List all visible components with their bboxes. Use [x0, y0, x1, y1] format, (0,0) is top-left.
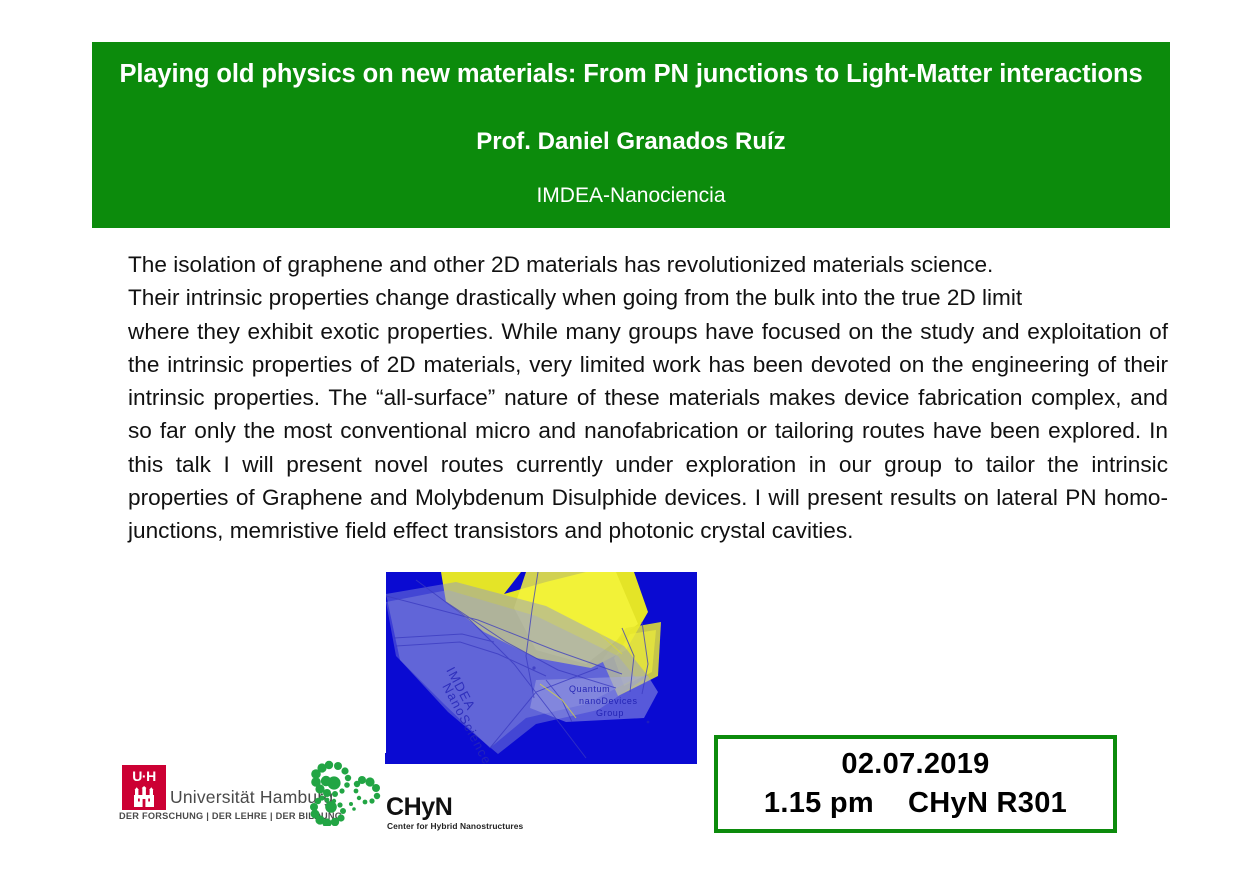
abstract-line-1: The isolation of graphene and other 2D m… [128, 248, 1168, 281]
abstract-text-block: The isolation of graphene and other 2D m… [128, 248, 1168, 548]
svg-text:Quantum: Quantum [569, 684, 610, 694]
event-info-box: 02.07.2019 1.15 pmCHyN R301 [714, 735, 1117, 833]
chyn-wordmark: CHyN [386, 793, 452, 822]
poster-header-band: Playing old physics on new materials: Fr… [92, 42, 1170, 228]
hamburg-castle-crest-icon [134, 786, 154, 807]
event-room: CHyN R301 [908, 787, 1067, 819]
micrograph-artwork: IMDEA NanoScience Quantum nanoDevices Gr… [386, 572, 697, 764]
chyn-blue-bar [385, 753, 431, 764]
uhh-red-mark: U·H [122, 765, 166, 810]
sample-micrograph-image: IMDEA NanoScience Quantum nanoDevices Gr… [386, 572, 697, 764]
chyn-subtitle: Center for Hybrid Nanostructures [387, 821, 523, 831]
abstract-body: where they exhibit exotic properties. Wh… [128, 315, 1168, 548]
chyn-nanostructure-icon [307, 760, 385, 826]
event-time: 1.15 pm [764, 787, 874, 819]
chyn-logo: CHyN Center for Hybrid Nanostructures [305, 753, 520, 835]
speaker-affiliation: IMDEA-Nanociencia [92, 156, 1170, 208]
speaker-name: Prof. Daniel Granados Ruíz [92, 90, 1170, 156]
event-time-and-room: 1.15 pmCHyN R301 [718, 781, 1113, 820]
universitaet-hamburg-logo: U·H Universität Hamburg DER FORSCHUNG | … [118, 763, 298, 825]
svg-text:Group: Group [596, 708, 624, 718]
event-date: 02.07.2019 [718, 748, 1113, 781]
abstract-line-2: Their intrinsic properties change drasti… [128, 281, 1168, 314]
svg-text:nanoDevices: nanoDevices [579, 696, 638, 706]
uhh-mark-letters: U·H [122, 768, 166, 784]
page-title: Playing old physics on new materials: Fr… [92, 59, 1170, 90]
